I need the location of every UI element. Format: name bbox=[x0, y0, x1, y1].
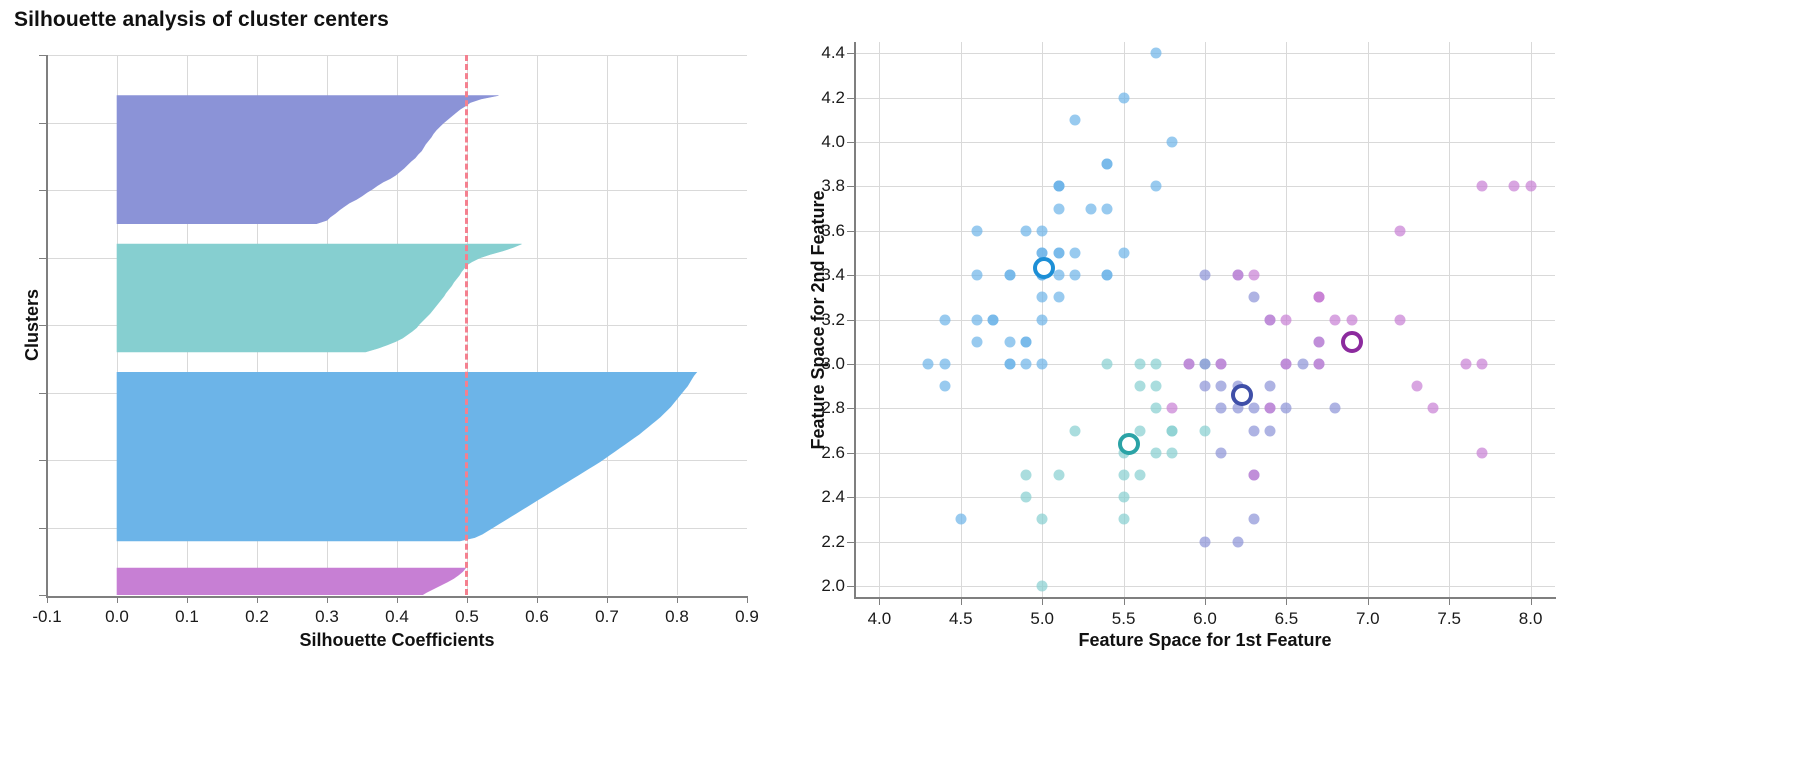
scatter-point bbox=[1069, 270, 1080, 281]
scatter-point bbox=[972, 270, 983, 281]
x-tick-label: 6.5 bbox=[1275, 609, 1299, 629]
x-tick-label: 0.9 bbox=[735, 607, 759, 627]
scatter-point bbox=[1037, 292, 1048, 303]
y-tick-mark bbox=[39, 123, 46, 124]
gridline-horizontal bbox=[855, 53, 1555, 54]
gridline-horizontal bbox=[855, 231, 1555, 232]
x-tick-mark bbox=[47, 597, 48, 603]
scatter-point bbox=[1248, 292, 1259, 303]
silhouette-panel: Silhouette Coefficients Clusters -0.10.0… bbox=[0, 0, 790, 770]
scatter-point bbox=[1151, 48, 1162, 59]
x-tick-mark bbox=[537, 597, 538, 603]
y-tick-mark bbox=[847, 542, 854, 543]
x-tick-label: 4.5 bbox=[949, 609, 973, 629]
average-silhouette-line bbox=[465, 55, 468, 595]
scatter-point bbox=[1151, 447, 1162, 458]
x-axis-title-left: Silhouette Coefficients bbox=[299, 630, 494, 651]
x-tick-mark bbox=[607, 597, 608, 603]
y-tick-label: 2.6 bbox=[801, 443, 845, 463]
scatter-plot-area[interactable] bbox=[855, 42, 1555, 597]
scatter-point bbox=[1411, 381, 1422, 392]
scatter-panel: Feature Space for 1st Feature Feature Sp… bbox=[790, 0, 1802, 770]
scatter-point bbox=[1037, 314, 1048, 325]
silhouette-plot-area[interactable] bbox=[47, 55, 747, 595]
gridline-horizontal bbox=[855, 320, 1555, 321]
x-tick-mark bbox=[1124, 599, 1125, 605]
scatter-point bbox=[1265, 381, 1276, 392]
scatter-point bbox=[1297, 358, 1308, 369]
silhouette-cluster-band-2 bbox=[117, 372, 697, 541]
silhouette-shapes bbox=[47, 55, 747, 595]
scatter-point bbox=[1200, 358, 1211, 369]
x-tick-mark bbox=[961, 599, 962, 605]
scatter-point bbox=[955, 514, 966, 525]
x-tick-label: 0.8 bbox=[665, 607, 689, 627]
scatter-point bbox=[1020, 492, 1031, 503]
scatter-point bbox=[1037, 580, 1048, 591]
x-tick-label: 7.5 bbox=[1437, 609, 1461, 629]
scatter-point bbox=[1167, 425, 1178, 436]
y-tick-mark bbox=[39, 460, 46, 461]
figure-root: Silhouette analysis of cluster centers S… bbox=[0, 0, 1802, 770]
y-tick-mark bbox=[39, 325, 46, 326]
scatter-point bbox=[1118, 492, 1129, 503]
x-tick-label: 0.6 bbox=[525, 607, 549, 627]
y-tick-mark bbox=[847, 186, 854, 187]
scatter-point bbox=[1102, 270, 1113, 281]
scatter-point bbox=[1102, 203, 1113, 214]
y-tick-label: 2.0 bbox=[801, 576, 845, 596]
scatter-point bbox=[1102, 159, 1113, 170]
scatter-point bbox=[1053, 469, 1064, 480]
scatter-point bbox=[972, 314, 983, 325]
x-tick-mark bbox=[1531, 599, 1532, 605]
scatter-point bbox=[1200, 381, 1211, 392]
scatter-point bbox=[1118, 469, 1129, 480]
y-tick-mark bbox=[847, 408, 854, 409]
y-tick-mark bbox=[847, 231, 854, 232]
y-tick-mark bbox=[39, 190, 46, 191]
scatter-point bbox=[1265, 403, 1276, 414]
scatter-point bbox=[1167, 403, 1178, 414]
scatter-point bbox=[1314, 358, 1325, 369]
scatter-point bbox=[1053, 181, 1064, 192]
x-tick-mark bbox=[879, 599, 880, 605]
scatter-point bbox=[1265, 425, 1276, 436]
scatter-point bbox=[1020, 225, 1031, 236]
scatter-point bbox=[1330, 314, 1341, 325]
scatter-point bbox=[1525, 181, 1536, 192]
scatter-point bbox=[1086, 203, 1097, 214]
y-axis-line-left bbox=[46, 55, 48, 597]
x-tick-mark bbox=[1449, 599, 1450, 605]
scatter-point bbox=[1232, 270, 1243, 281]
scatter-point bbox=[1476, 447, 1487, 458]
y-tick-label: 3.8 bbox=[801, 176, 845, 196]
scatter-point bbox=[1134, 358, 1145, 369]
scatter-point bbox=[1509, 181, 1520, 192]
y-tick-label: 3.0 bbox=[801, 354, 845, 374]
scatter-point bbox=[1134, 425, 1145, 436]
y-tick-label: 2.8 bbox=[801, 398, 845, 418]
scatter-point bbox=[1004, 336, 1015, 347]
scatter-point bbox=[972, 336, 983, 347]
scatter-point bbox=[1265, 314, 1276, 325]
y-tick-label: 4.2 bbox=[801, 88, 845, 108]
scatter-point bbox=[1053, 292, 1064, 303]
scatter-point bbox=[1232, 536, 1243, 547]
scatter-point bbox=[923, 358, 934, 369]
scatter-point bbox=[1330, 403, 1341, 414]
y-tick-label: 2.2 bbox=[801, 532, 845, 552]
x-tick-mark bbox=[1205, 599, 1206, 605]
silhouette-cluster-band-0 bbox=[117, 96, 499, 224]
scatter-point bbox=[939, 314, 950, 325]
x-tick-label: -0.1 bbox=[32, 607, 61, 627]
x-tick-label: 0.3 bbox=[315, 607, 339, 627]
y-tick-mark bbox=[847, 320, 854, 321]
scatter-point bbox=[1037, 514, 1048, 525]
silhouette-cluster-band-3 bbox=[109, 568, 466, 595]
gridline-horizontal bbox=[855, 586, 1555, 587]
scatter-point bbox=[1346, 314, 1357, 325]
x-tick-mark bbox=[1286, 599, 1287, 605]
scatter-point bbox=[1151, 181, 1162, 192]
scatter-point bbox=[1151, 358, 1162, 369]
cluster-center-marker-1[interactable] bbox=[1118, 433, 1140, 455]
scatter-point bbox=[1053, 203, 1064, 214]
x-tick-label: 4.0 bbox=[868, 609, 892, 629]
scatter-point bbox=[1248, 469, 1259, 480]
x-tick-mark bbox=[677, 597, 678, 603]
x-axis-title-right: Feature Space for 1st Feature bbox=[1078, 630, 1331, 651]
scatter-point bbox=[1395, 314, 1406, 325]
x-tick-label: 5.0 bbox=[1030, 609, 1054, 629]
scatter-point bbox=[1200, 425, 1211, 436]
scatter-point bbox=[1427, 403, 1438, 414]
y-tick-mark bbox=[847, 497, 854, 498]
scatter-point bbox=[1200, 536, 1211, 547]
y-tick-mark bbox=[847, 98, 854, 99]
scatter-point bbox=[972, 225, 983, 236]
scatter-point bbox=[1395, 225, 1406, 236]
scatter-point bbox=[1281, 358, 1292, 369]
scatter-point bbox=[1248, 514, 1259, 525]
scatter-point bbox=[1118, 247, 1129, 258]
x-tick-mark bbox=[1368, 599, 1369, 605]
scatter-point bbox=[1248, 270, 1259, 281]
scatter-point bbox=[1200, 270, 1211, 281]
x-tick-mark bbox=[187, 597, 188, 603]
cluster-center-marker-3[interactable] bbox=[1341, 331, 1363, 353]
gridline-horizontal bbox=[855, 408, 1555, 409]
scatter-point bbox=[1037, 225, 1048, 236]
scatter-point bbox=[1476, 358, 1487, 369]
scatter-point bbox=[1183, 358, 1194, 369]
x-tick-label: 7.0 bbox=[1356, 609, 1380, 629]
silhouette-cluster-band-1 bbox=[117, 244, 522, 352]
y-tick-mark bbox=[39, 595, 46, 596]
scatter-point bbox=[1151, 381, 1162, 392]
scatter-point bbox=[1118, 514, 1129, 525]
scatter-point bbox=[1069, 425, 1080, 436]
scatter-point bbox=[1118, 92, 1129, 103]
x-tick-mark bbox=[327, 597, 328, 603]
y-tick-label: 4.0 bbox=[801, 132, 845, 152]
x-tick-label: 0.7 bbox=[595, 607, 619, 627]
y-tick-mark bbox=[39, 258, 46, 259]
scatter-point bbox=[1151, 403, 1162, 414]
y-tick-mark bbox=[847, 453, 854, 454]
scatter-point bbox=[1167, 136, 1178, 147]
x-tick-label: 5.5 bbox=[1112, 609, 1136, 629]
gridline-horizontal bbox=[855, 497, 1555, 498]
x-tick-label: 0.4 bbox=[385, 607, 409, 627]
scatter-point bbox=[939, 358, 950, 369]
scatter-point bbox=[1053, 247, 1064, 258]
scatter-point bbox=[1216, 447, 1227, 458]
scatter-point bbox=[988, 314, 999, 325]
scatter-point bbox=[1314, 336, 1325, 347]
scatter-point bbox=[1216, 358, 1227, 369]
x-tick-label: 8.0 bbox=[1519, 609, 1543, 629]
gridline-horizontal bbox=[855, 186, 1555, 187]
scatter-point bbox=[1037, 358, 1048, 369]
scatter-point bbox=[1069, 247, 1080, 258]
scatter-point bbox=[939, 381, 950, 392]
scatter-point bbox=[1020, 358, 1031, 369]
y-tick-label: 3.6 bbox=[801, 221, 845, 241]
x-tick-mark bbox=[257, 597, 258, 603]
y-tick-mark bbox=[847, 364, 854, 365]
scatter-point bbox=[1216, 381, 1227, 392]
x-tick-label: 0.0 bbox=[105, 607, 129, 627]
scatter-point bbox=[1069, 114, 1080, 125]
y-tick-label: 4.4 bbox=[801, 43, 845, 63]
scatter-point bbox=[1460, 358, 1471, 369]
gridline-horizontal bbox=[855, 453, 1555, 454]
scatter-point bbox=[1020, 469, 1031, 480]
y-tick-mark bbox=[847, 53, 854, 54]
y-tick-mark bbox=[847, 586, 854, 587]
y-axis-line-right bbox=[854, 42, 856, 598]
cluster-center-marker-0[interactable] bbox=[1231, 384, 1253, 406]
y-tick-mark bbox=[39, 528, 46, 529]
scatter-point bbox=[1281, 314, 1292, 325]
scatter-point bbox=[1004, 270, 1015, 281]
y-tick-mark bbox=[847, 275, 854, 276]
scatter-point bbox=[1020, 336, 1031, 347]
y-tick-label: 3.4 bbox=[801, 265, 845, 285]
scatter-point bbox=[1167, 447, 1178, 458]
y-tick-mark bbox=[39, 393, 46, 394]
gridline-horizontal bbox=[855, 142, 1555, 143]
x-tick-label: 0.2 bbox=[245, 607, 269, 627]
x-tick-mark bbox=[397, 597, 398, 603]
scatter-point bbox=[1134, 381, 1145, 392]
scatter-point bbox=[1053, 270, 1064, 281]
x-tick-mark bbox=[1042, 599, 1043, 605]
y-tick-mark bbox=[39, 55, 46, 56]
x-tick-label: 0.5 bbox=[455, 607, 479, 627]
x-tick-label: 0.1 bbox=[175, 607, 199, 627]
cluster-center-marker-2[interactable] bbox=[1033, 257, 1055, 279]
gridline-horizontal bbox=[855, 98, 1555, 99]
scatter-point bbox=[1134, 469, 1145, 480]
scatter-point bbox=[1248, 425, 1259, 436]
scatter-point bbox=[1281, 403, 1292, 414]
x-tick-mark bbox=[467, 597, 468, 603]
scatter-point bbox=[1102, 358, 1113, 369]
x-tick-mark bbox=[747, 597, 748, 603]
scatter-point bbox=[1314, 292, 1325, 303]
y-tick-label: 3.2 bbox=[801, 310, 845, 330]
x-tick-mark bbox=[117, 597, 118, 603]
scatter-point bbox=[1476, 181, 1487, 192]
scatter-point bbox=[1248, 403, 1259, 414]
y-tick-mark bbox=[847, 142, 854, 143]
x-tick-label: 6.0 bbox=[1193, 609, 1217, 629]
scatter-point bbox=[1004, 358, 1015, 369]
scatter-point bbox=[1216, 403, 1227, 414]
y-tick-label: 2.4 bbox=[801, 487, 845, 507]
